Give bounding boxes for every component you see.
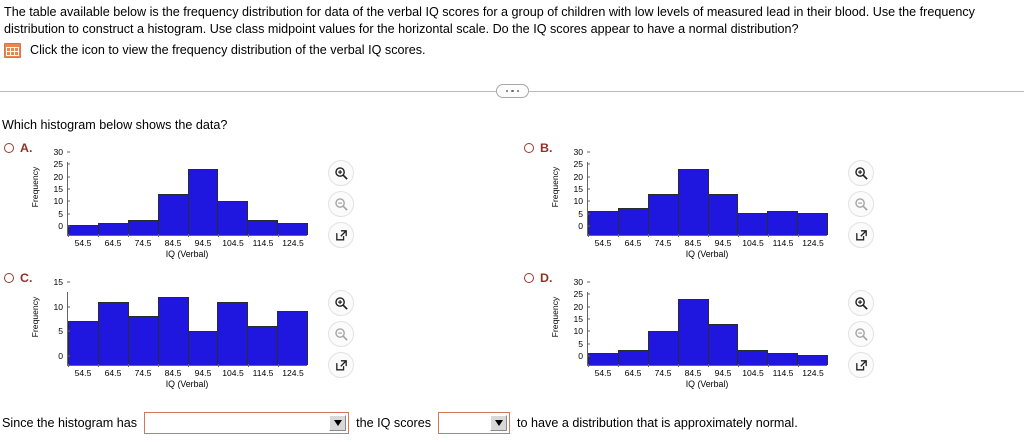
plot-area-d: 051015202530 [587, 292, 827, 366]
answer-prompt: Which histogram below shows the data? [2, 118, 227, 132]
appear-dropdown-value[interactable] [439, 413, 490, 433]
option-b-label: B. [540, 141, 552, 155]
radio-option-d[interactable] [524, 273, 534, 283]
x-tick-label: 64.5 [98, 238, 128, 248]
answer-suffix-text: to have a distribution that is approxima… [517, 416, 798, 430]
chart-tools-b [848, 160, 882, 253]
x-tick-label: 124.5 [798, 368, 828, 378]
histogram-bar [648, 331, 679, 365]
y-tick-label: 25 [573, 159, 587, 169]
x-tick-label: 84.5 [158, 238, 188, 248]
x-axis-line [67, 235, 307, 236]
histogram-bar [188, 169, 219, 235]
y-tick-label: 5 [578, 339, 587, 349]
question-stem: The table available below is the frequen… [0, 0, 1024, 39]
popout-icon[interactable] [328, 222, 354, 248]
option-a[interactable]: A. Frequency 051015202530 54.564.574.584… [0, 140, 512, 258]
y-tick-label: 5 [58, 209, 67, 219]
histogram-a: Frequency 051015202530 54.564.574.584.59… [28, 158, 328, 258]
histogram-bar [277, 311, 308, 365]
popout-icon[interactable] [848, 352, 874, 378]
histogram-bar [708, 324, 739, 365]
bars-c [68, 292, 307, 365]
histogram-bar [98, 223, 129, 235]
y-axis-label: Frequency [30, 288, 40, 346]
x-axis-label: IQ (Verbal) [67, 379, 307, 389]
histogram-bar [217, 302, 248, 365]
y-axis-label: Frequency [550, 158, 560, 216]
ellipsis-dot [506, 90, 509, 93]
histogram-bar [648, 194, 679, 235]
y-tick-label: 0 [578, 221, 587, 231]
option-c[interactable]: C. Frequency 051015 54.564.574.584.594.5… [0, 270, 512, 388]
x-tick-label: 54.5 [68, 238, 98, 248]
x-tick-label: 124.5 [278, 368, 308, 378]
histogram-bar [98, 302, 129, 365]
histogram-bar [247, 326, 278, 365]
shape-dropdown[interactable] [144, 412, 349, 434]
zoom-in-icon[interactable] [328, 290, 354, 316]
histogram-bar [618, 208, 649, 235]
x-axis-label: IQ (Verbal) [587, 379, 827, 389]
x-axis-line [587, 365, 827, 366]
histogram-bar [158, 297, 189, 365]
chart-tools-a [328, 160, 362, 253]
y-tick-label: 5 [578, 209, 587, 219]
chart-tools-d [848, 290, 882, 383]
x-tick-label: 84.5 [158, 368, 188, 378]
histogram-c: Frequency 051015 54.564.574.584.594.5104… [28, 288, 328, 388]
popout-icon[interactable] [848, 222, 874, 248]
zoom-out-icon[interactable] [328, 191, 354, 217]
zoom-in-icon[interactable] [328, 160, 354, 186]
x-tick-label: 64.5 [98, 368, 128, 378]
x-ticks-b: 54.564.574.584.594.5104.5114.5124.5 [588, 238, 828, 248]
x-ticks-a: 54.564.574.584.594.5104.5114.5124.5 [68, 238, 308, 248]
x-tick-label: 104.5 [738, 368, 768, 378]
option-b[interactable]: B. Frequency 051015202530 54.564.574.584… [520, 140, 1024, 258]
y-tick-label: 0 [58, 221, 67, 231]
appear-dropdown[interactable] [438, 412, 510, 434]
histogram-bar [797, 355, 828, 365]
x-ticks-d: 54.564.574.584.594.5104.5114.5124.5 [588, 368, 828, 378]
bars-b [588, 162, 827, 235]
shape-dropdown-value[interactable] [145, 413, 329, 433]
histogram-bar [618, 350, 649, 365]
histogram-bar [68, 321, 99, 365]
x-axis-label: IQ (Verbal) [587, 249, 827, 259]
y-tick-label: 25 [573, 289, 587, 299]
x-tick-label: 104.5 [218, 238, 248, 248]
x-tick-label: 74.5 [128, 368, 158, 378]
y-tick-label: 30 [573, 277, 587, 287]
y-tick-label: 15 [573, 184, 587, 194]
histogram-bar [737, 350, 768, 365]
histogram-bar [588, 353, 619, 365]
plot-area-a: 051015202530 [67, 162, 307, 236]
y-tick-label: 15 [53, 184, 67, 194]
option-c-header[interactable]: C. [0, 270, 512, 286]
x-tick-label: 114.5 [768, 238, 798, 248]
option-a-header[interactable]: A. [0, 140, 512, 156]
histogram-d: Frequency 051015202530 54.564.574.584.59… [548, 288, 848, 388]
y-axis-label: Frequency [550, 288, 560, 346]
histogram-bar [217, 201, 248, 235]
zoom-out-icon[interactable] [848, 191, 874, 217]
x-tick-label: 64.5 [618, 238, 648, 248]
x-tick-label: 54.5 [588, 238, 618, 248]
expand-ellipsis-button[interactable] [496, 84, 529, 98]
histogram-b: Frequency 051015202530 54.564.574.584.59… [548, 158, 848, 258]
radio-option-c[interactable] [4, 273, 14, 283]
x-tick-label: 64.5 [618, 368, 648, 378]
y-tick-label: 20 [573, 172, 587, 182]
answer-middle-text: the IQ scores [356, 416, 431, 430]
histogram-bar [767, 353, 798, 365]
zoom-out-icon[interactable] [328, 321, 354, 347]
y-tick-label: 0 [58, 351, 67, 361]
y-tick-label: 0 [578, 351, 587, 361]
y-tick-label: 15 [573, 314, 587, 324]
ellipsis-dot [511, 90, 514, 93]
option-d-label: D. [540, 271, 552, 285]
x-ticks-c: 54.564.574.584.594.5104.5114.5124.5 [68, 368, 308, 378]
chevron-down-icon[interactable] [329, 415, 346, 431]
y-tick-label: 30 [573, 147, 587, 157]
plot-area-b: 051015202530 [587, 162, 827, 236]
table-icon[interactable] [4, 43, 21, 58]
table-icon-link-label[interactable]: Click the icon to view the frequency dis… [30, 43, 426, 57]
zoom-in-icon[interactable] [848, 160, 874, 186]
x-tick-label: 94.5 [708, 238, 738, 248]
x-tick-label: 104.5 [218, 368, 248, 378]
x-tick-label: 94.5 [188, 238, 218, 248]
x-tick-label: 54.5 [588, 368, 618, 378]
option-d[interactable]: D. Frequency 051015202530 54.564.574.584… [520, 270, 1024, 388]
table-icon-link[interactable]: Click the icon to view the frequency dis… [0, 39, 1024, 58]
x-tick-label: 74.5 [648, 368, 678, 378]
chart-tools-c [328, 290, 362, 383]
x-tick-label: 84.5 [678, 238, 708, 248]
histogram-bar [767, 211, 798, 235]
option-a-label: A. [20, 141, 32, 155]
x-tick-label: 54.5 [68, 368, 98, 378]
option-b-header[interactable]: B. [520, 140, 1024, 156]
y-tick-label: 5 [58, 326, 67, 336]
histogram-bar [708, 194, 739, 235]
y-tick-label: 10 [53, 302, 67, 312]
histogram-bar [68, 225, 99, 235]
y-tick-label: 10 [573, 326, 587, 336]
histogram-bar [277, 223, 308, 235]
y-tick-label: 10 [53, 196, 67, 206]
histogram-bar [128, 220, 159, 235]
answer-sentence: Since the histogram has the IQ scores to… [2, 412, 798, 434]
answer-prefix-text: Since the histogram has [2, 416, 137, 430]
x-tick-label: 124.5 [278, 238, 308, 248]
option-d-header[interactable]: D. [520, 270, 1024, 286]
chevron-down-icon[interactable] [490, 415, 507, 431]
histogram-bar [678, 169, 709, 235]
radio-option-b[interactable] [524, 143, 534, 153]
histogram-bar [158, 194, 189, 235]
histogram-bar [737, 213, 768, 235]
y-tick-label: 10 [573, 196, 587, 206]
x-axis-label: IQ (Verbal) [67, 249, 307, 259]
x-axis-line [67, 365, 307, 366]
x-tick-label: 94.5 [708, 368, 738, 378]
histogram-bar [797, 213, 828, 235]
x-tick-label: 104.5 [738, 238, 768, 248]
x-axis-line [587, 235, 827, 236]
radio-option-a[interactable] [4, 143, 14, 153]
y-axis-label: Frequency [30, 158, 40, 216]
zoom-out-icon[interactable] [848, 321, 874, 347]
popout-icon[interactable] [328, 352, 354, 378]
x-tick-label: 84.5 [678, 368, 708, 378]
plot-area-c: 051015 [67, 292, 307, 366]
x-tick-label: 124.5 [798, 238, 828, 248]
bars-a [68, 162, 307, 235]
y-tick-label: 20 [573, 302, 587, 312]
x-tick-label: 114.5 [768, 368, 798, 378]
histogram-bar [678, 299, 709, 365]
x-tick-label: 114.5 [248, 368, 278, 378]
histogram-bar [128, 316, 159, 365]
x-tick-label: 74.5 [648, 238, 678, 248]
x-tick-label: 94.5 [188, 368, 218, 378]
histogram-bar [588, 211, 619, 235]
option-c-label: C. [20, 271, 32, 285]
y-tick-label: 15 [53, 277, 67, 287]
x-tick-label: 74.5 [128, 238, 158, 248]
ellipsis-dot [517, 90, 520, 93]
y-tick-label: 25 [53, 159, 67, 169]
histogram-bar [188, 331, 219, 365]
y-tick-label: 20 [53, 172, 67, 182]
x-tick-label: 114.5 [248, 238, 278, 248]
zoom-in-icon[interactable] [848, 290, 874, 316]
bars-d [588, 292, 827, 365]
histogram-bar [247, 220, 278, 235]
y-tick-label: 30 [53, 147, 67, 157]
